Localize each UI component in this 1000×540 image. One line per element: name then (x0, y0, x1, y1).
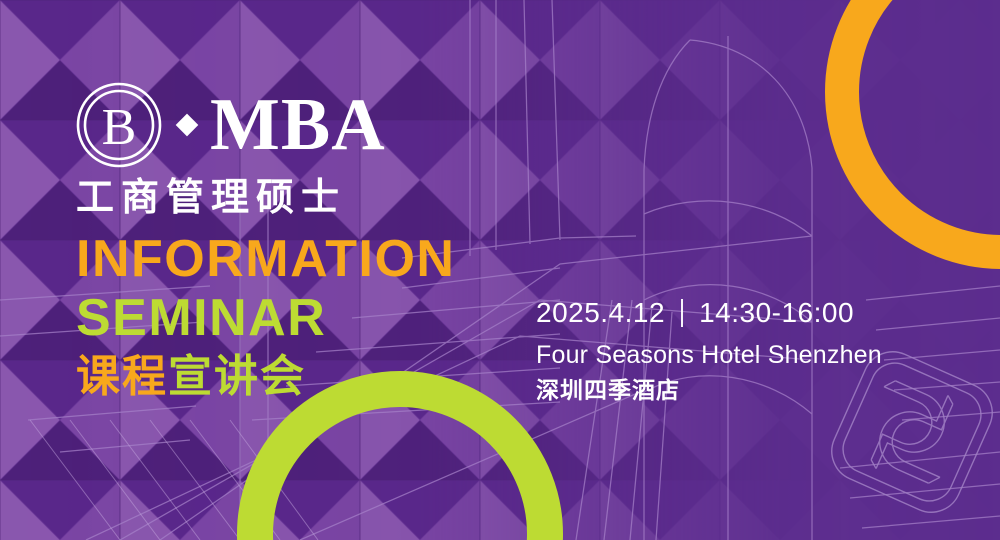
venue-name-cn: 深圳四季酒店 (536, 375, 956, 405)
event-time: 14:30-16:00 (699, 296, 854, 330)
headline-event-cn: 课程宣讲会 (76, 350, 306, 404)
orange-ring-arc (842, 0, 1000, 252)
event-datetime: 2025.4.12 14:30-16:00 (536, 296, 956, 330)
event-info-block: 2025.4.12 14:30-16:00 Four Seasons Hotel… (536, 296, 956, 405)
degree-title-cn: 工商管理硕士 (76, 176, 346, 220)
headline-event-cn-a: 课程 (76, 352, 168, 401)
poster-canvas: B MBA 工商管理硕士 INFORMATION SEMINAR 课程宣讲会 2… (0, 0, 1000, 540)
headline-information: INFORMATION (76, 229, 455, 289)
diamond-separator-icon (174, 112, 200, 138)
brand-lockup: B MBA (76, 82, 386, 168)
event-date: 2025.4.12 (536, 296, 665, 330)
headline-seminar: SEMINAR (76, 288, 326, 348)
venue-name-en: Four Seasons Hotel Shenzhen (536, 340, 956, 371)
svg-text:B: B (102, 99, 137, 156)
datetime-separator (681, 299, 683, 327)
mba-wordmark: MBA (210, 88, 386, 162)
headline-event-cn-b: 宣讲会 (168, 352, 306, 401)
headline-block: B MBA 工商管理硕士 INFORMATION SEMINAR 课程宣讲会 (0, 0, 520, 540)
b-emblem-icon: B (76, 82, 162, 168)
